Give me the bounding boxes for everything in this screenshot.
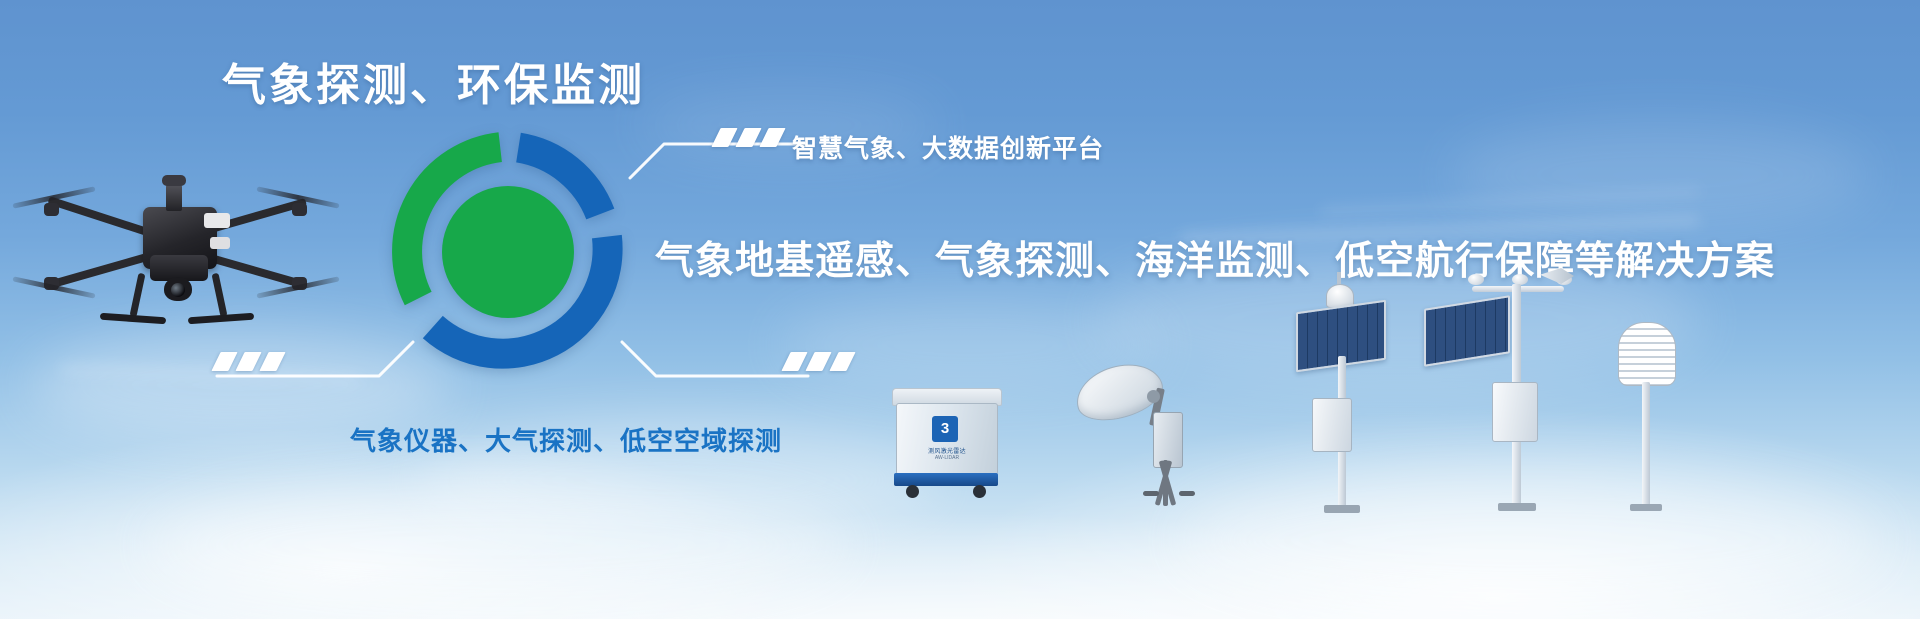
anemometer-mast-photo (1420, 272, 1590, 517)
ring-inner-circle (442, 186, 574, 318)
banner-headline: 气象探测、环保监测 (222, 49, 645, 113)
slash-marks-bottom (216, 352, 281, 371)
drone-photo (38, 155, 313, 350)
cloud-wisp (1450, 120, 1870, 230)
cloud-wisp (150, 480, 850, 610)
cabinet-brand-mark: 3 (932, 416, 958, 442)
split-ring-logo (388, 132, 628, 372)
hero-banner: 气象探测、环保监测 (0, 0, 1920, 619)
slash-marks-right (786, 352, 851, 371)
cabinet-model-text: 测风激光雷达 (908, 446, 986, 455)
satellite-dish-photo (1075, 360, 1200, 500)
label-instruments: 气象仪器、大气探测、低空空域探测 (350, 421, 782, 458)
connector-line-right (620, 340, 810, 380)
label-smart-meteorology: 智慧气象、大数据创新平台 (792, 129, 1104, 165)
cloud-streak (60, 365, 360, 383)
slash-marks-top (716, 128, 781, 147)
cabinet-sub-text: AW-LIDAR (908, 455, 986, 461)
radiation-shield-photo (1612, 322, 1686, 512)
cloud-streak (1320, 188, 1700, 215)
lidar-cabinet-photo: 3 测风激光雷达 AW-LIDAR (890, 388, 1002, 500)
label-solutions: 气象地基遥感、气象探测、海洋监测、低空航行保障等解决方案 (655, 230, 1775, 286)
solar-weather-station-photo (1286, 300, 1406, 515)
